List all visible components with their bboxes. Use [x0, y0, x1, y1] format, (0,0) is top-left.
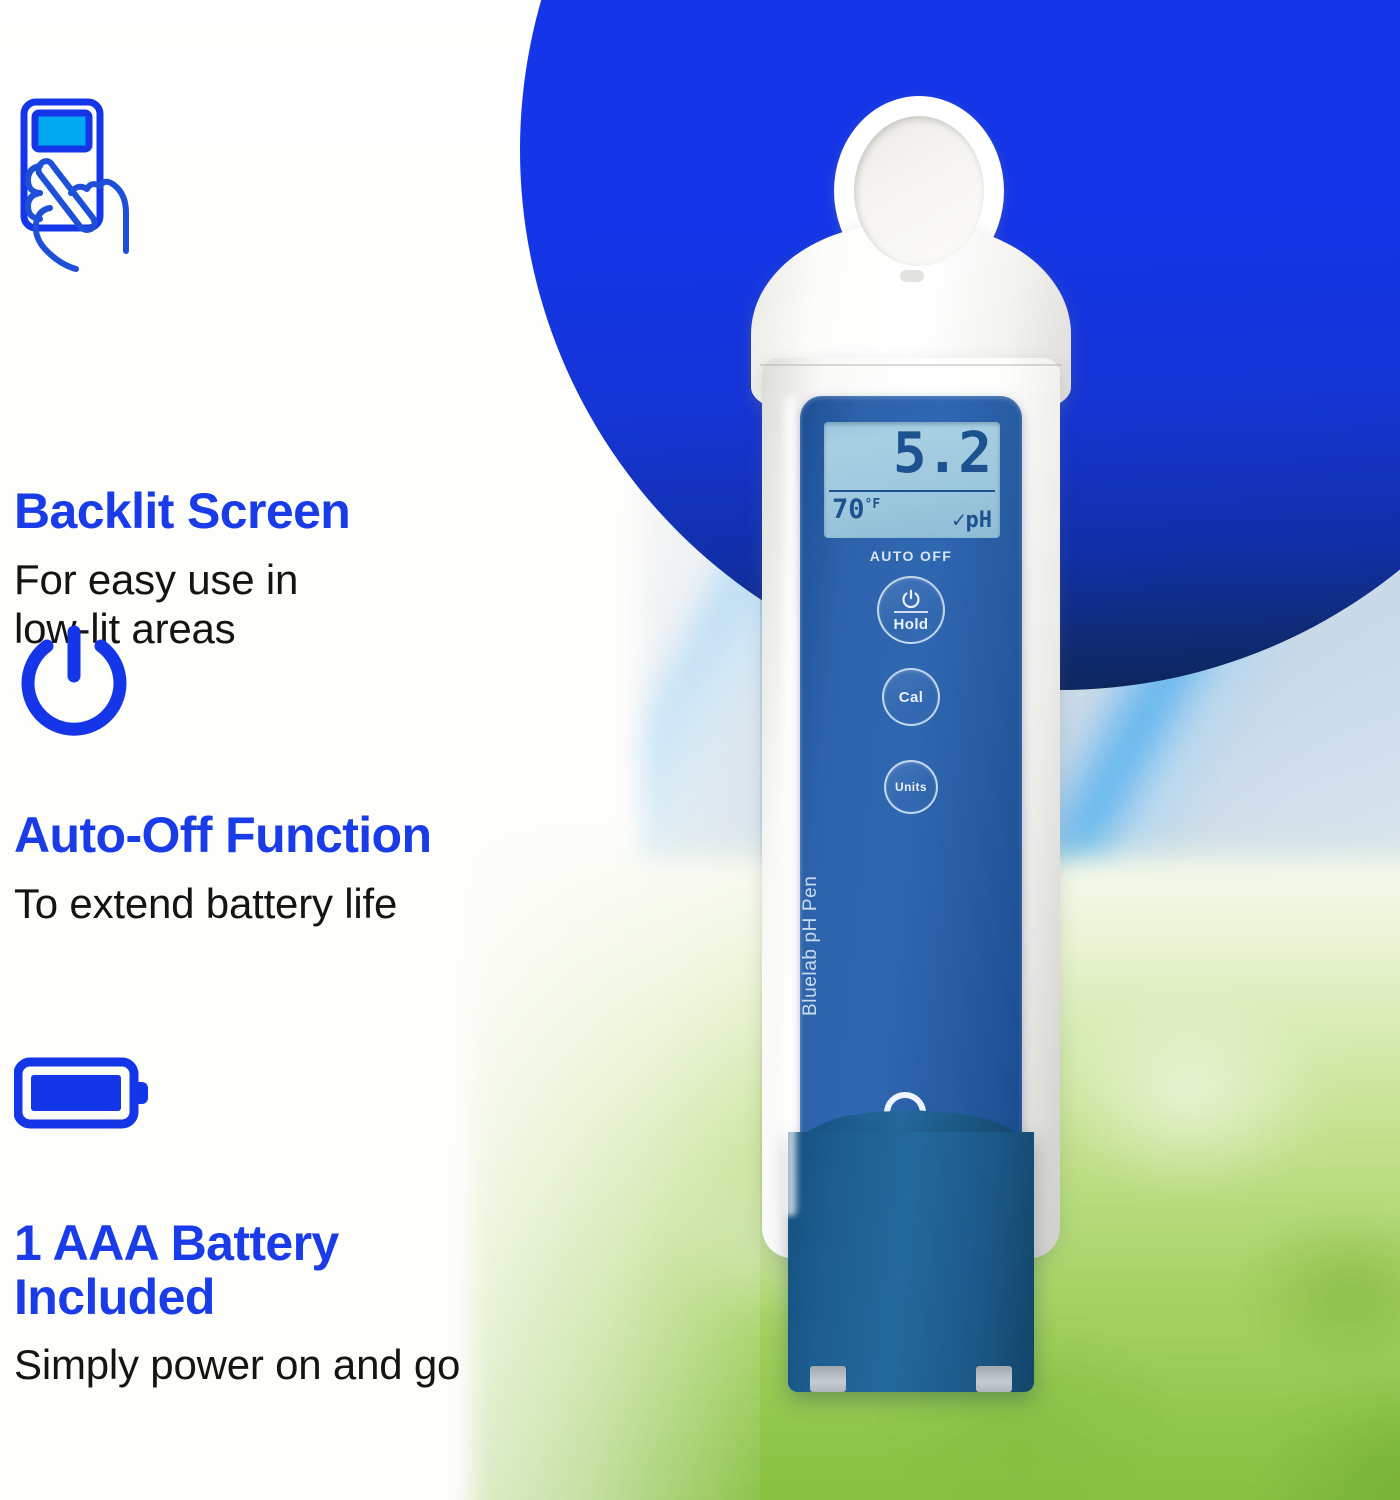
units-button[interactable]: Units [884, 760, 938, 814]
auto-off-print-label: AUTO OFF [800, 548, 1022, 564]
lcd-mode-check-icon: ✓ [952, 508, 965, 533]
lcd-temperature-unit: °F [865, 497, 881, 512]
pen-loop-nub [900, 270, 924, 282]
pen-body-seam [760, 364, 1062, 366]
power-icon [14, 622, 431, 747]
lcd-ph-reading: 5.2 [893, 426, 991, 482]
lcd-temperature-value: 70 [832, 494, 865, 525]
feature-title: Backlit Screen [14, 485, 350, 539]
feature-auto-off: Auto-Off Function To extend battery life [14, 622, 431, 928]
feature-title: Auto-Off Function [14, 809, 431, 863]
pen-probe-cap [788, 1132, 1034, 1392]
pen-specular-highlight [780, 396, 800, 1216]
units-button-label: Units [895, 781, 927, 793]
lcd-temperature: 70°F [832, 496, 880, 523]
lcd-mode-indicator: ✓pH [952, 510, 992, 532]
lcd-divider [829, 490, 995, 492]
pen-loop-inner-hole [854, 116, 984, 266]
hold-button-divider [894, 611, 928, 613]
cal-button[interactable]: Cal [882, 668, 940, 726]
hold-button-label: Hold [894, 617, 929, 632]
feature-battery: 1 AAA Battery Included Simply power on a… [14, 1054, 460, 1389]
product-brand-label: Bluelab pH Pen [800, 836, 1022, 1056]
ph-pen-product: 5.2 70°F ✓pH AUTO OFF Hold Cal Units Blu… [726, 96, 1096, 1426]
feature-subtitle: To extend battery life [14, 879, 431, 928]
feature-backlit-screen: Backlit Screen For easy use in low-lit a… [14, 96, 350, 653]
feature-subtitle: Simply power on and go [14, 1340, 460, 1389]
infographic-canvas: Backlit Screen For easy use in low-lit a… [0, 0, 1400, 1500]
hold-button[interactable]: Hold [877, 576, 945, 644]
battery-full-icon [14, 1054, 460, 1137]
cal-button-label: Cal [899, 690, 924, 705]
lcd-display: 5.2 70°F ✓pH [824, 422, 1000, 538]
lcd-mode-label: pH [966, 508, 993, 533]
feature-title: 1 AAA Battery Included [14, 1217, 460, 1324]
pen-cap-foot-left [810, 1366, 846, 1392]
power-icon [901, 589, 921, 609]
pen-cap-foot-right [976, 1366, 1012, 1392]
hand-touching-backlit-screen-icon [14, 96, 350, 279]
